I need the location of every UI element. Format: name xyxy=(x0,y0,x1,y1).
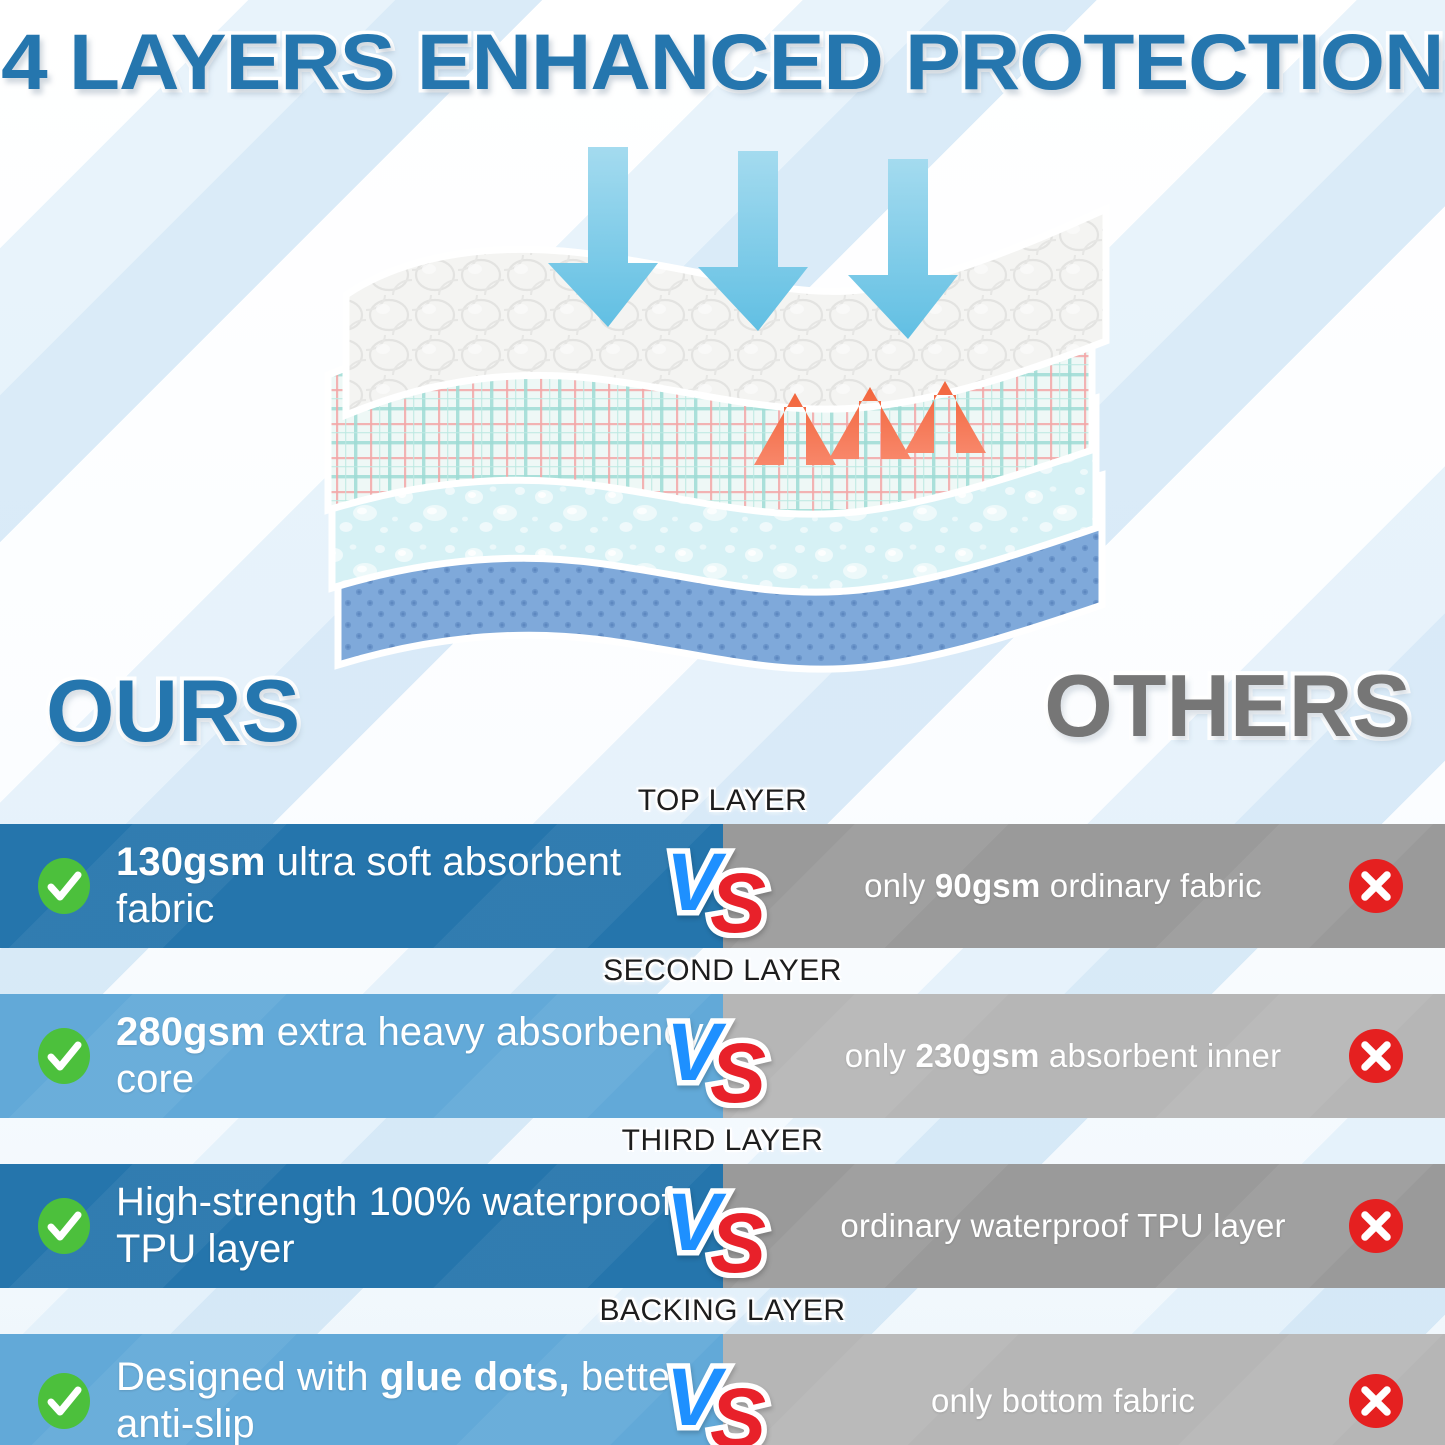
others-feature-text: only bottom fabric xyxy=(723,1381,1347,1421)
layer-caption-second: SECOND LAYER xyxy=(603,954,842,988)
others-pre: only bottom fabric xyxy=(931,1382,1195,1419)
ours-cell: 280gsm extra heavy absorbency core xyxy=(0,994,723,1118)
ours-feature-highlight: 280gsm xyxy=(116,1010,266,1054)
others-pre: only xyxy=(864,867,935,904)
others-pre: ordinary waterproof TPU layer xyxy=(840,1207,1285,1244)
check-circle-icon xyxy=(36,854,92,918)
ours-feature-text: Designed with glue dots, better anti-sli… xyxy=(116,1354,723,1445)
layer-caption-backing: BACKING LAYER xyxy=(599,1294,845,1328)
check-circle-icon xyxy=(36,1024,92,1088)
table-row: High-strength 100% waterproof TPU layer … xyxy=(0,1164,1445,1288)
check-circle-icon xyxy=(36,1369,92,1433)
ours-feature-text: 280gsm extra heavy absorbency core xyxy=(116,1009,723,1103)
comparison-table: TOP LAYER 130gsm ultra soft absorbent fa… xyxy=(0,778,1445,1445)
others-highlight: 90gsm xyxy=(935,867,1041,904)
x-circle-icon xyxy=(1347,1197,1405,1255)
table-row: 280gsm extra heavy absorbency core only … xyxy=(0,994,1445,1118)
layer-caption-third: THIRD LAYER xyxy=(622,1124,824,1158)
others-column-heading: OTHERS xyxy=(1044,655,1411,757)
ours-feature-rest: Designed with xyxy=(116,1355,380,1399)
ours-feature-text: High-strength 100% waterproof TPU layer xyxy=(116,1179,723,1273)
others-feature-text: only 230gsm absorbent inner xyxy=(723,1036,1347,1076)
layer-caption-row: TOP LAYER xyxy=(0,778,1445,824)
others-highlight: 230gsm xyxy=(915,1037,1039,1074)
layer-caption-row: SECOND LAYER xyxy=(0,948,1445,994)
table-row: 130gsm ultra soft absorbent fabric only … xyxy=(0,824,1445,948)
layer-caption-row: BACKING LAYER xyxy=(0,1288,1445,1334)
others-cell: only bottom fabric xyxy=(723,1334,1445,1445)
ours-feature-highlight: 130gsm xyxy=(116,840,266,884)
layer-caption-row: THIRD LAYER xyxy=(0,1118,1445,1164)
ours-cell: High-strength 100% waterproof TPU layer xyxy=(0,1164,723,1288)
ours-column-heading: OURS xyxy=(46,660,300,762)
table-row: Designed with glue dots, better anti-sli… xyxy=(0,1334,1445,1445)
absorption-down-arrows xyxy=(548,147,958,339)
others-feature-text: only 90gsm ordinary fabric xyxy=(723,866,1347,906)
page-title: 4 LAYERS ENHANCED PROTECTION xyxy=(1,16,1443,108)
ours-feature-text: 130gsm ultra soft absorbent fabric xyxy=(116,839,723,933)
check-circle-icon xyxy=(36,1194,92,1258)
x-circle-icon xyxy=(1347,1372,1405,1430)
others-post: ordinary fabric xyxy=(1040,867,1261,904)
others-cell: ordinary waterproof TPU layer xyxy=(723,1164,1445,1288)
others-cell: only 230gsm absorbent inner xyxy=(723,994,1445,1118)
others-feature-text: ordinary waterproof TPU layer xyxy=(723,1206,1347,1246)
four-layer-fabric-illustration xyxy=(320,135,1110,690)
others-cell: only 90gsm ordinary fabric xyxy=(723,824,1445,948)
ours-cell: 130gsm ultra soft absorbent fabric xyxy=(0,824,723,948)
layer-caption-top: TOP LAYER xyxy=(638,784,808,818)
x-circle-icon xyxy=(1347,857,1405,915)
ours-cell: Designed with glue dots, better anti-sli… xyxy=(0,1334,723,1445)
x-circle-icon xyxy=(1347,1027,1405,1085)
title-container: 4 LAYERS ENHANCED PROTECTION xyxy=(0,16,1445,108)
ours-feature-rest: High-strength 100% waterproof TPU layer xyxy=(116,1180,673,1271)
layer-quilted-top xyxy=(346,209,1106,415)
others-pre: only xyxy=(845,1037,916,1074)
ours-feature-highlight: glue dots, xyxy=(380,1355,570,1399)
others-post: absorbent inner xyxy=(1040,1037,1282,1074)
